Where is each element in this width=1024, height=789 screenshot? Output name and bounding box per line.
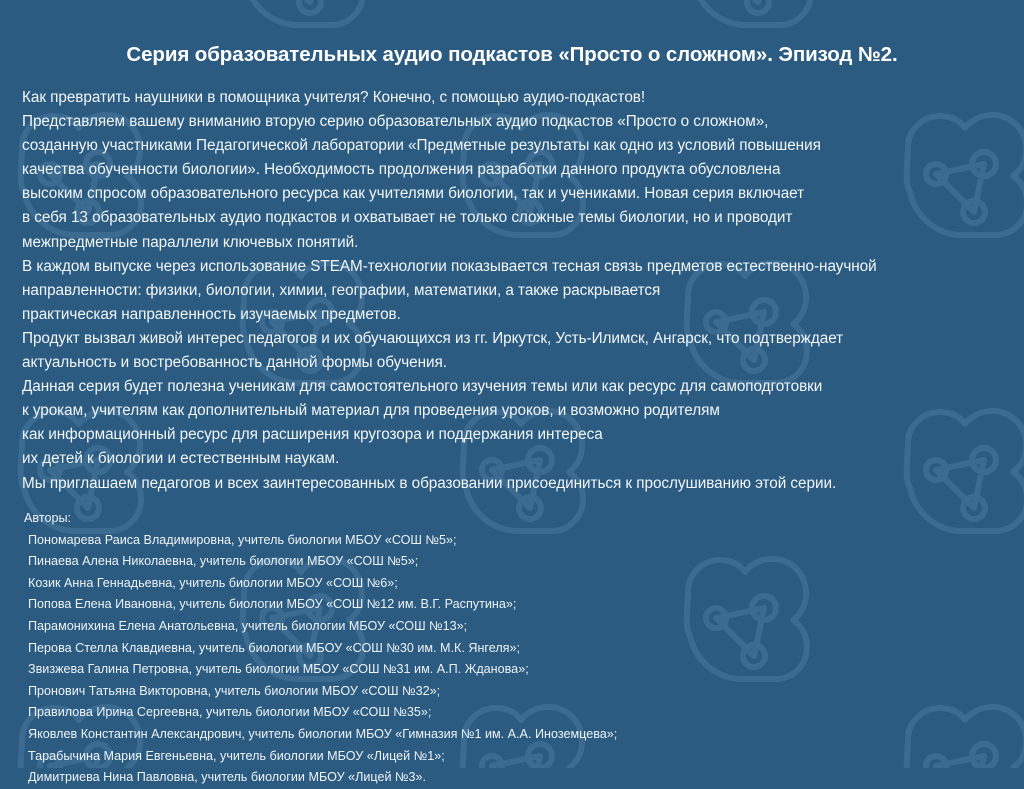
author-list-item: Попова Елена Ивановна, учитель биологии …	[24, 594, 1014, 616]
body-line: Данная серия будет полезна ученикам для …	[22, 375, 1012, 399]
body-line: актуальность и востребованность данной ф…	[22, 351, 1012, 375]
body-line: Продукт вызвал живой интерес педагогов и…	[22, 327, 1012, 351]
author-list-item: Перова Стелла Клавдиевна, учитель биолог…	[24, 638, 1014, 660]
authors-heading: Авторы:	[24, 508, 1014, 530]
authors-block: Авторы: Пономарева Раиса Владимировна, у…	[24, 508, 1014, 789]
author-list-item: Тарабычина Мария Евгеньевна, учитель био…	[24, 746, 1014, 768]
body-text-block: Как превратить наушники в помощника учит…	[22, 86, 1012, 496]
author-list-item: Пономарева Раиса Владимировна, учитель б…	[24, 530, 1014, 552]
body-line: их детей к биологии и естественным наука…	[22, 447, 1012, 471]
body-line: Представляем вашему вниманию вторую сери…	[22, 110, 1012, 134]
page-title: Серия образовательных аудио подкастов «П…	[0, 43, 1024, 67]
body-line: практическая направленность изучаемых пр…	[22, 303, 1012, 327]
author-list-item: Димитриева Нина Павловна, учитель биолог…	[24, 767, 1014, 789]
body-line: Мы приглашаем педагогов и всех заинтерес…	[22, 472, 1012, 496]
author-list-item: Яковлев Константин Александрович, учител…	[24, 724, 1014, 746]
body-line: направленности: физики, биологии, химии,…	[22, 279, 1012, 303]
body-line: в себя 13 образовательных аудио подкасто…	[22, 206, 1012, 230]
author-list-item: Пронович Татьяна Викторовна, учитель био…	[24, 681, 1014, 703]
body-line: межпредметные параллели ключевых понятий…	[22, 231, 1012, 255]
presentation-slide: Серия образовательных аудио подкастов «П…	[0, 0, 1024, 768]
body-line: созданную участниками Педагогической лаб…	[22, 134, 1012, 158]
body-line: Как превратить наушники в помощника учит…	[22, 86, 1012, 110]
author-list-item: Пинаева Алена Николаевна, учитель биолог…	[24, 551, 1014, 573]
body-line: качества обученности биологии». Необходи…	[22, 158, 1012, 182]
body-line: В каждом выпуске через использование STE…	[22, 255, 1012, 279]
author-list-item: Парамонихина Елена Анатольевна, учитель …	[24, 616, 1014, 638]
body-line: как информационный ресурс для расширения…	[22, 423, 1012, 447]
body-line: к урокам, учителям как дополнительный ма…	[22, 399, 1012, 423]
author-list-item: Козик Анна Геннадьевна, учитель биологии…	[24, 573, 1014, 595]
author-list-item: Правилова Ирина Сергеевна, учитель биоло…	[24, 702, 1014, 724]
author-list-item: Звизжева Галина Петровна, учитель биолог…	[24, 659, 1014, 681]
body-line: высоким спросом образовательного ресурса…	[22, 182, 1012, 206]
